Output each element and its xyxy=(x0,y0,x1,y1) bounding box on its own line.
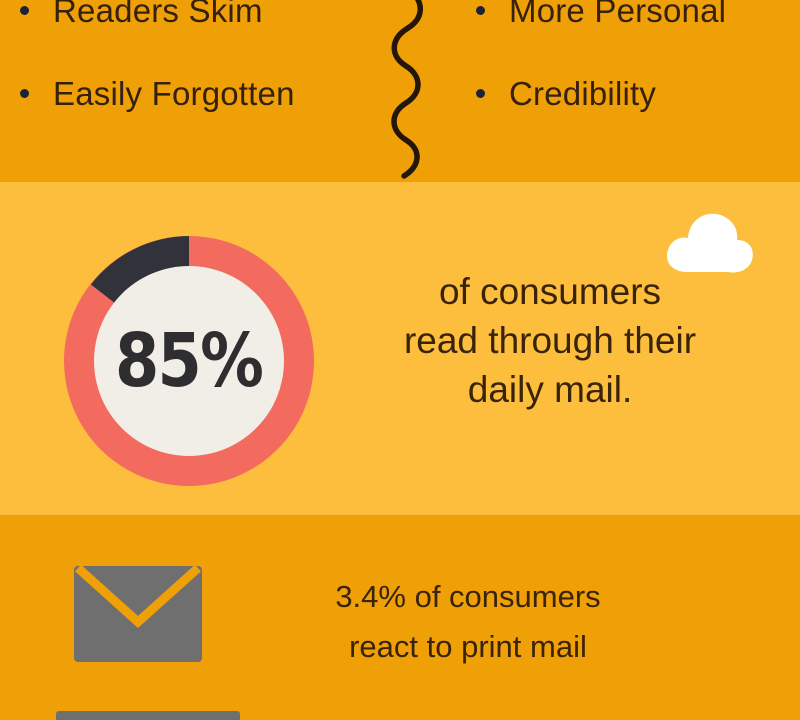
envelope-icon xyxy=(74,566,202,662)
react-caption: 3.4% of consumers react to print mail xyxy=(268,572,668,672)
bullet-dot-icon xyxy=(20,6,29,15)
list-item: More Personal xyxy=(476,0,726,27)
bullet-label: Readers Skim xyxy=(53,0,263,27)
bullet-label: More Personal xyxy=(509,0,726,27)
list-item: Easily Forgotten xyxy=(20,77,295,110)
bullet-dot-icon xyxy=(20,89,29,98)
bullet-label: Credibility xyxy=(509,77,656,110)
react-caption-line: 3.4% of consumers xyxy=(268,572,668,622)
bullet-dot-icon xyxy=(476,6,485,15)
infographic-canvas: Readers Skim Easily Forgotten More Perso… xyxy=(0,0,800,720)
envelope-icon-partial xyxy=(56,711,240,720)
list-item: Credibility xyxy=(476,77,656,110)
bullet-list-left: Readers Skim Easily Forgotten xyxy=(0,0,370,182)
stat-caption-line: of consumers xyxy=(340,268,760,317)
stat-caption-line: read through their xyxy=(340,317,760,366)
stat-caption: of consumers read through their daily ma… xyxy=(340,268,760,414)
donut-chart: 85% xyxy=(64,236,314,486)
stat-caption-line: daily mail. xyxy=(340,366,760,415)
donut-hole xyxy=(94,266,284,456)
donut-chart-svg xyxy=(64,236,314,486)
squiggle-divider-icon xyxy=(378,0,430,182)
list-item: Readers Skim xyxy=(20,0,263,27)
bullet-dot-icon xyxy=(476,89,485,98)
react-caption-line: react to print mail xyxy=(268,622,668,672)
bullet-list-right: More Personal Credibility xyxy=(462,0,800,182)
bullet-label: Easily Forgotten xyxy=(53,77,295,110)
